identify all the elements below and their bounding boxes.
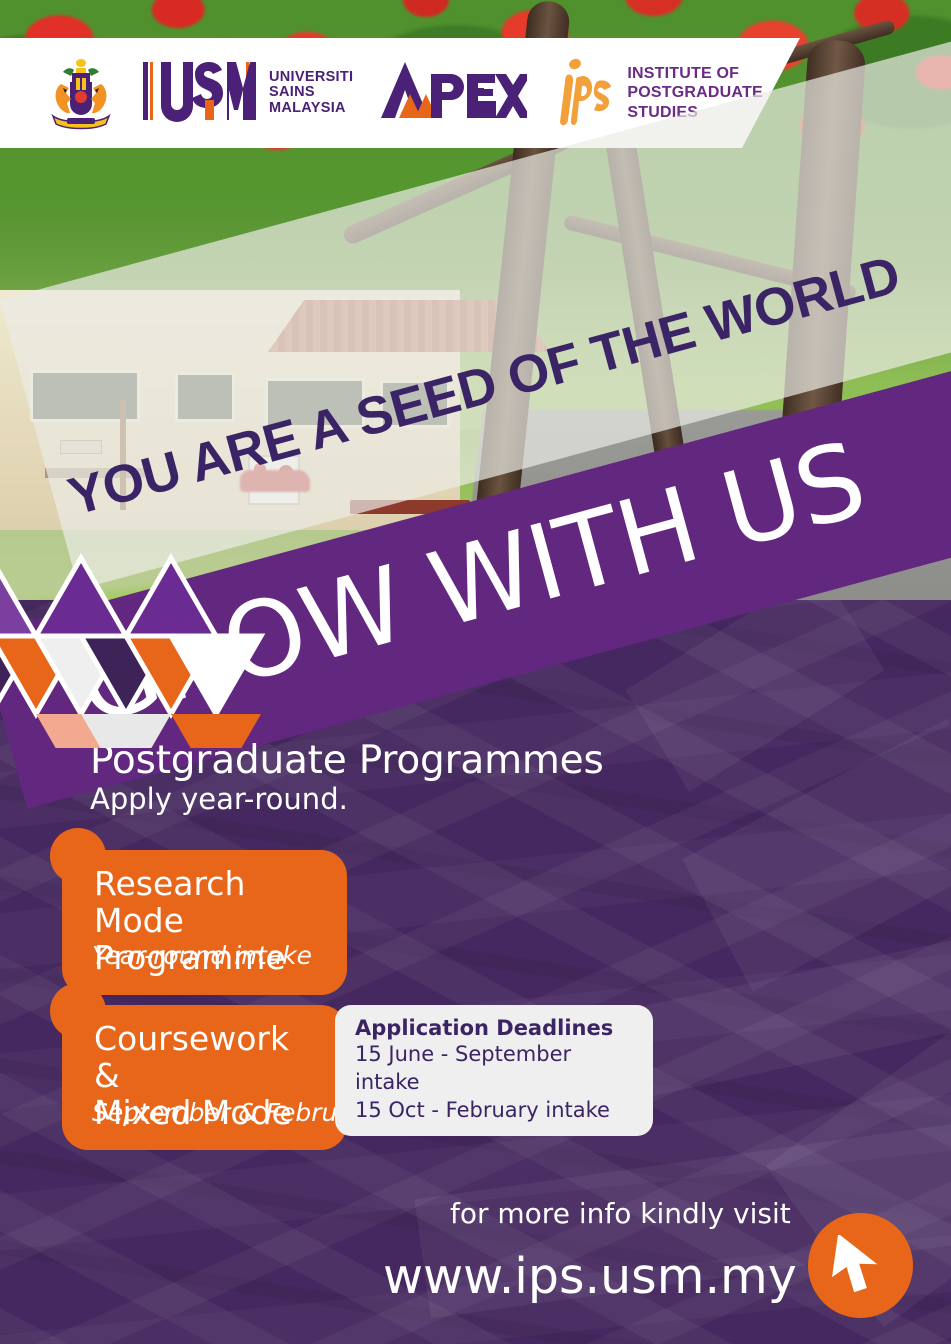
cta-url[interactable]: www.ips.usm.my xyxy=(383,1248,797,1305)
usm-word-line-3: MALAYSIA xyxy=(269,101,353,116)
cursor-arrow-icon[interactable] xyxy=(808,1213,913,1318)
programme-label: Coursework & Mixed Mode xyxy=(62,1005,347,1150)
deadlines-card: Application Deadlines 15 June - Septembe… xyxy=(335,1005,653,1136)
section-subtitle: Apply year-round. xyxy=(90,782,348,816)
ips-monogram-icon xyxy=(553,55,615,132)
usm-word-line-1: UNIVERSITI xyxy=(269,70,353,85)
deadlines-heading: Application Deadlines xyxy=(355,1015,639,1041)
programme-card-coursework[interactable]: Coursework & Mixed Mode xyxy=(62,1005,347,1150)
usm-monogram-icon xyxy=(143,60,261,127)
usm-crest-icon xyxy=(45,56,117,130)
programme-card-research[interactable]: Research Mode Programme xyxy=(62,850,347,995)
usm-wordmark: UNIVERSITI SAINS MALAYSIA xyxy=(269,70,353,116)
usm-word-line-2: SAINS xyxy=(269,85,353,100)
triangle-pattern xyxy=(0,548,366,748)
deadline-row: 15 Oct - February intake xyxy=(355,1097,639,1125)
programme-intake-research: Year-round intake xyxy=(92,941,312,970)
deadline-row: 15 June - September intake xyxy=(355,1041,639,1096)
ips-word-line-1: INSTITUTE OF xyxy=(627,64,762,83)
usm-logo: UNIVERSITI SAINS MALAYSIA xyxy=(143,60,353,127)
poster: YOU ARE A SEED OF THE WORLD GROW WITH US xyxy=(0,0,951,1344)
cta-prompt: for more info kindly visit xyxy=(450,1197,791,1230)
programme-label: Research Mode Programme xyxy=(62,850,347,995)
apex-logo-icon xyxy=(379,60,527,127)
